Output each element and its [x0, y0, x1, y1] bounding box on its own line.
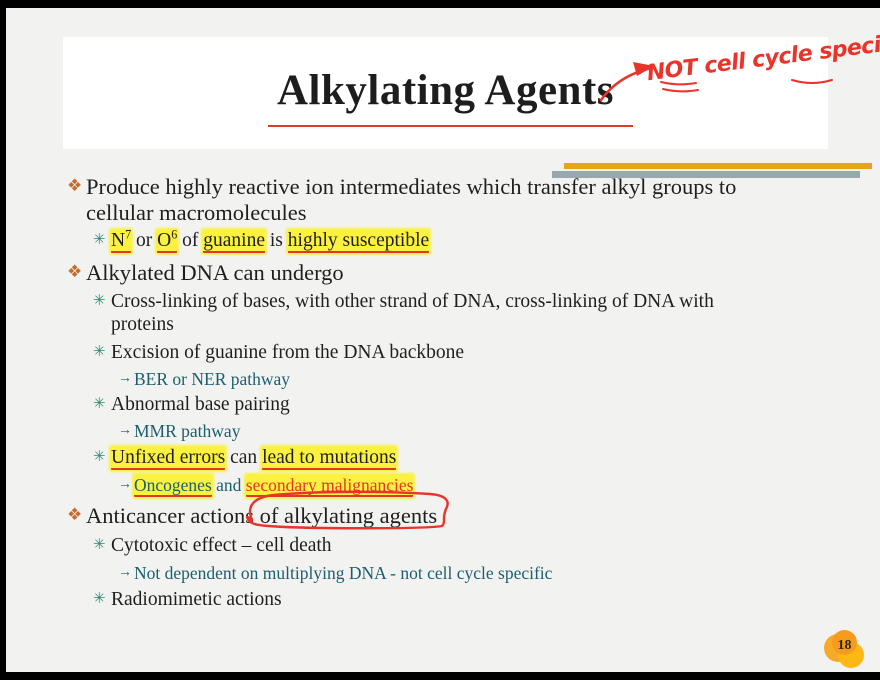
- bullet-text: MMR pathway: [134, 421, 240, 441]
- bullet-text: Radiomimetic actions: [111, 589, 282, 612]
- arrow-icon: →: [118, 475, 134, 495]
- bullet-text: Unfixed errors can lead to mutations: [111, 447, 396, 470]
- bullet-mmr-pathway: → MMR pathway: [63, 421, 863, 441]
- asterisk-icon: ✳: [93, 230, 111, 252]
- highlight-unfixed-errors: Unfixed errors: [111, 447, 225, 470]
- bullet-text: BER or NER pathway: [134, 369, 290, 389]
- bullet-text-line-b: proteins: [111, 314, 174, 335]
- bullet-text: Cross-linking of bases, with other stran…: [111, 291, 714, 336]
- title-underline: [268, 125, 633, 127]
- asterisk-icon: ✳: [93, 535, 111, 557]
- asterisk-icon: ✳: [93, 589, 111, 611]
- asterisk-icon: ✳: [93, 447, 111, 469]
- text-of: of: [177, 230, 203, 251]
- bullet-not-dependent-multiplying-dna: → Not dependent on multiplying DNA - not…: [63, 563, 863, 583]
- text-can: can: [225, 447, 262, 468]
- text-is: is: [265, 230, 288, 251]
- bullet-text-line-a: Cross-linking of bases, with other stran…: [111, 291, 714, 312]
- four-diamond-icon: ❖: [67, 260, 86, 285]
- bullet-text: Excision of guanine from the DNA backbon…: [111, 342, 464, 365]
- four-diamond-icon: ❖: [67, 503, 86, 528]
- bullet-anticancer-actions: ❖ Anticancer actions of alkylating agent…: [63, 503, 863, 529]
- bullet-produce-reactive-ions: ❖ Produce highly reactive ion intermedia…: [63, 174, 863, 226]
- bullet-text: Not dependent on multiplying DNA - not c…: [134, 563, 552, 583]
- arrow-icon: →: [118, 421, 134, 441]
- highlight-o6: O6: [157, 230, 177, 253]
- bullet-text: Abnormal base pairing: [111, 394, 290, 417]
- bullet-ber-ner-pathway: → BER or NER pathway: [63, 369, 863, 389]
- slide-content: ❖ Produce highly reactive ion intermedia…: [63, 174, 863, 613]
- highlight-oncogenes: Oncogenes: [134, 475, 212, 497]
- arrow-icon: →: [118, 369, 134, 389]
- bullet-cytotoxic-effect: ✳ Cytotoxic effect – cell death: [63, 535, 863, 558]
- four-diamond-icon: ❖: [67, 174, 86, 199]
- bullet-abnormal-base-pairing: ✳ Abnormal base pairing: [63, 394, 863, 417]
- text-and: and: [212, 475, 246, 495]
- text-or: or: [131, 230, 157, 251]
- asterisk-icon: ✳: [93, 394, 111, 416]
- bullet-text-line-b: cellular macromolecules: [86, 200, 307, 225]
- bullet-excision-guanine: ✳ Excision of guanine from the DNA backb…: [63, 342, 863, 365]
- highlight-n7: N7: [111, 230, 131, 253]
- bullet-unfixed-errors: ✳ Unfixed errors can lead to mutations: [63, 447, 863, 470]
- bullet-text: Oncogenes and secondary malignancies: [134, 475, 413, 495]
- bullet-text: Cytotoxic effect – cell death: [111, 535, 332, 558]
- asterisk-icon: ✳: [93, 342, 111, 364]
- highlight-lead-to-mutations: lead to mutations: [262, 447, 396, 470]
- bullet-text: N7 or O6 of guanine is highly susceptibl…: [111, 230, 429, 253]
- highlight-highly-susceptible: highly susceptible: [288, 230, 429, 253]
- decor-bar-gray: [552, 171, 860, 178]
- asterisk-icon: ✳: [93, 291, 111, 313]
- bullet-radiomimetic-actions: ✳ Radiomimetic actions: [63, 589, 863, 612]
- page-number-text: 18: [832, 635, 857, 657]
- bullet-n7-o6-guanine: ✳ N7 or O6 of guanine is highly suscepti…: [63, 230, 863, 253]
- arrow-icon: →: [118, 563, 134, 583]
- bullet-alkylated-dna: ❖ Alkylated DNA can undergo: [63, 260, 863, 286]
- page-number-badge: 18: [824, 630, 870, 674]
- slide-canvas: Alkylating Agents NOT cell cycle specifi…: [6, 8, 880, 672]
- bullet-text: Anticancer actions of alkylating agents: [86, 503, 437, 529]
- bullet-oncogenes-malignancies: → Oncogenes and secondary malignancies: [63, 475, 863, 495]
- highlight-guanine: guanine: [203, 230, 265, 253]
- highlight-secondary-malignancies: secondary malignancies: [246, 475, 414, 497]
- decor-bar-orange: [564, 163, 872, 169]
- bullet-text: Alkylated DNA can undergo: [86, 260, 344, 286]
- bullet-cross-linking: ✳ Cross-linking of bases, with other str…: [63, 291, 863, 336]
- bullet-text: Produce highly reactive ion intermediate…: [86, 174, 736, 226]
- page-title: Alkylating Agents: [63, 66, 828, 115]
